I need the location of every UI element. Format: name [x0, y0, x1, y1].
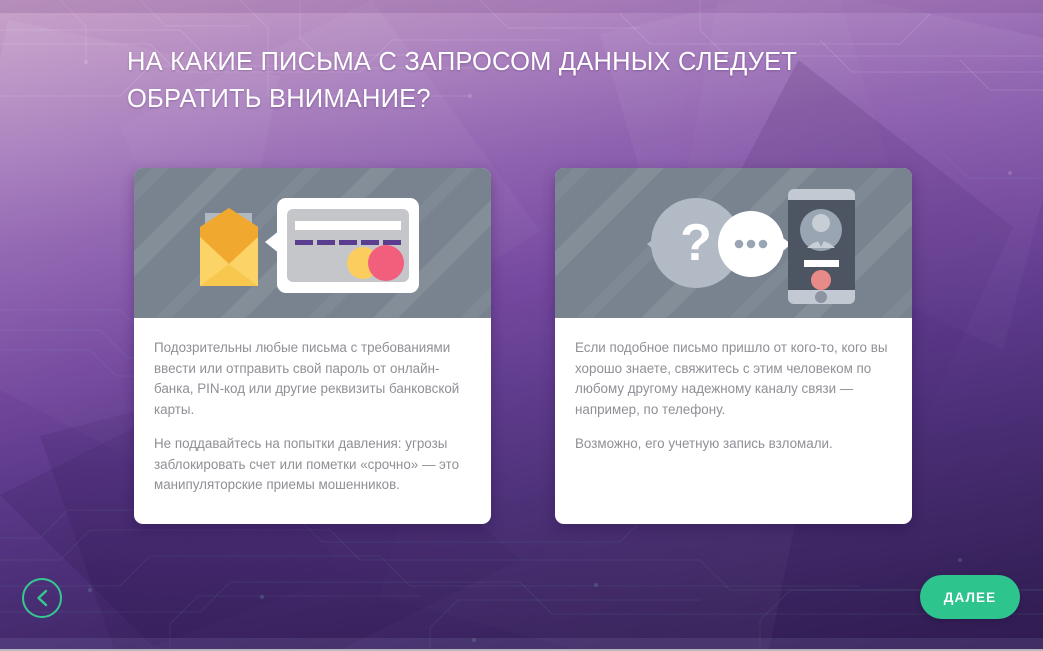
bottom-band [0, 638, 1043, 649]
card-list: ? [134, 168, 914, 524]
slide-root: На какие письма с запросом данных следуе… [0, 0, 1043, 651]
top-band [0, 0, 1043, 13]
card-paragraph: Если подобное письмо пришло от кого-то, … [575, 338, 892, 420]
chevron-left-icon [35, 589, 49, 607]
chat-bubbles-phone-contact-illustration: ? [555, 168, 912, 318]
envelope-question-credit-card-illustration: ? [134, 168, 491, 318]
previous-slide-button[interactable] [22, 578, 62, 618]
info-card: ? [555, 168, 912, 524]
info-card: ? [134, 168, 491, 524]
svg-text:?: ? [680, 214, 712, 272]
next-slide-button[interactable]: Далее [920, 575, 1020, 619]
smartphone-icon [788, 189, 855, 304]
page-title: На какие письма с запросом данных следуе… [127, 44, 917, 118]
envelope-icon: ? [200, 208, 258, 286]
card-paragraph: Возможно, его учетную запись взломали. [575, 434, 892, 455]
card-paragraph: Не поддавайтесь на попытки давления: угр… [154, 434, 471, 496]
card-body: Если подобное письмо пришло от кого-то, … [555, 318, 912, 524]
credit-card-bubble-icon [265, 198, 419, 293]
card-body: Подозрительны любые письма с требованиям… [134, 318, 491, 524]
card-paragraph: Подозрительны любые письма с требованиям… [154, 338, 471, 420]
typing-bubble-icon [718, 211, 791, 277]
